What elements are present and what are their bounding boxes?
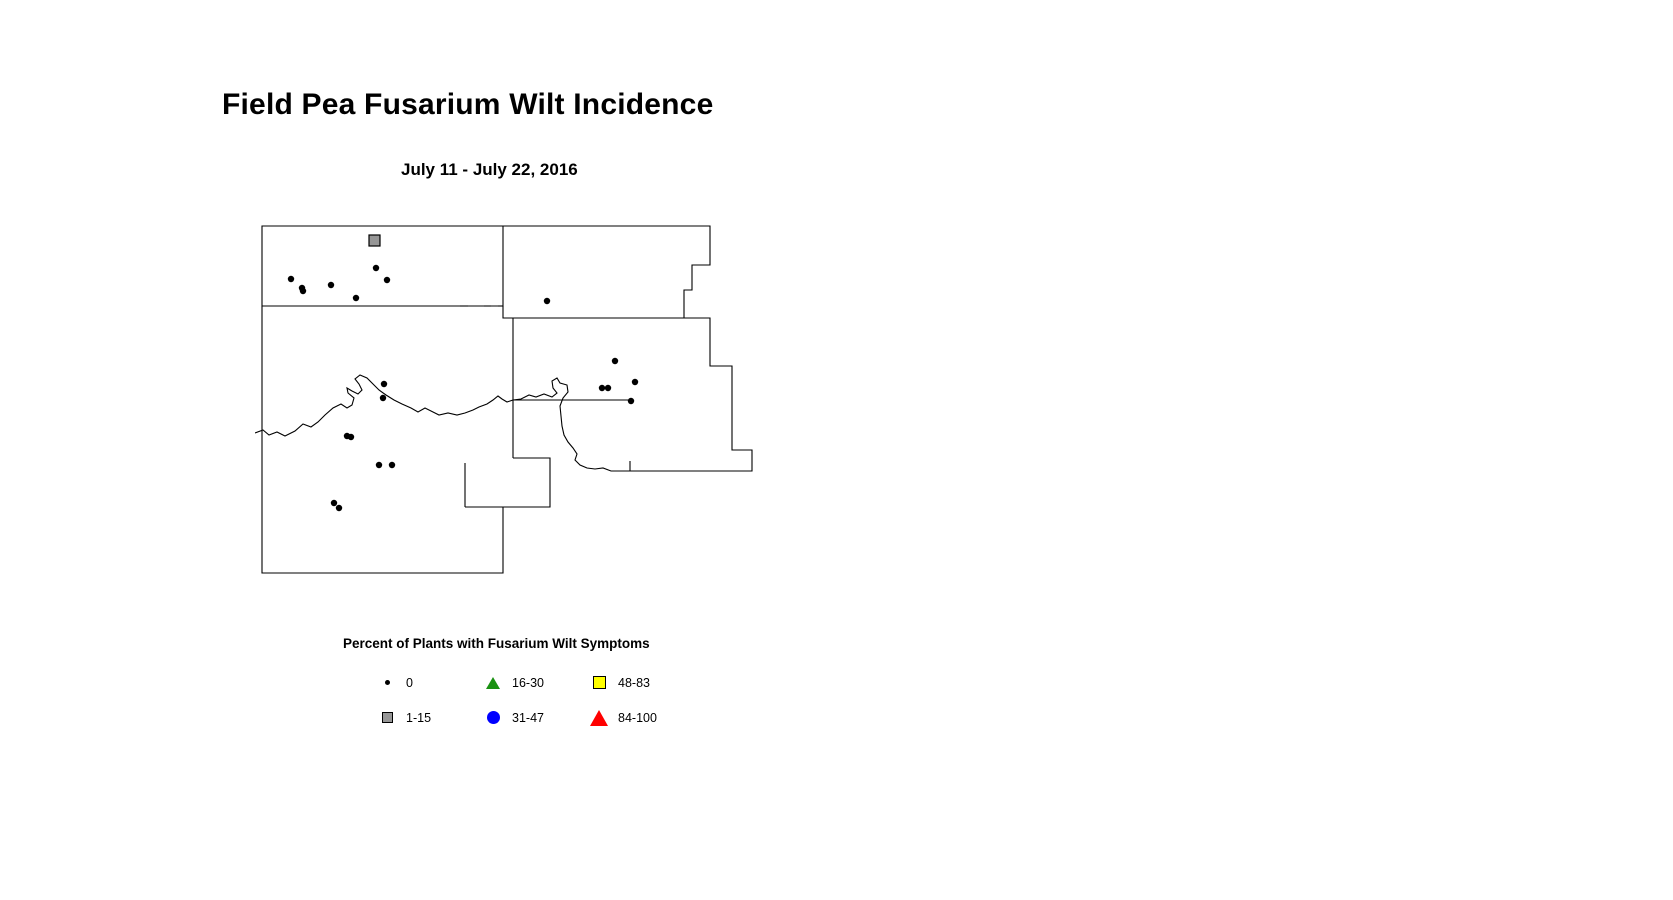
legend-row: 1-15 31-47 84-100	[376, 700, 696, 735]
triangle-red-icon	[588, 707, 610, 729]
county-map-svg	[255, 218, 775, 618]
county-outline-sw	[262, 306, 503, 573]
legend: 0 16-30 48-83 1-15 31-47 84-100	[376, 665, 696, 735]
data-points-layer	[288, 235, 638, 511]
county-divider-vertical-b	[503, 458, 550, 507]
legend-item-1-15: 1-15	[376, 707, 482, 729]
page-subtitle: July 11 - July 22, 2016	[401, 160, 578, 180]
triangle-green-icon	[482, 672, 504, 694]
data-point	[605, 385, 611, 391]
data-point	[331, 500, 337, 506]
square-yellow-icon	[588, 672, 610, 694]
square-gray-icon	[376, 707, 398, 729]
legend-item-16-30: 16-30	[482, 672, 588, 694]
legend-item-31-47: 31-47	[482, 707, 588, 729]
county-outline-e	[513, 318, 752, 471]
data-point	[381, 381, 387, 387]
legend-item-label: 0	[406, 676, 413, 690]
data-point	[544, 298, 550, 304]
data-point	[328, 282, 334, 288]
map-page: Field Pea Fusarium Wilt Incidence July 1…	[0, 0, 1673, 900]
legend-row: 0 16-30 48-83	[376, 665, 696, 700]
data-point	[628, 398, 634, 404]
data-point	[348, 434, 354, 440]
circle-blue-icon	[482, 707, 504, 729]
data-point-square	[369, 235, 380, 246]
incidence-points-low	[369, 235, 380, 246]
data-point	[380, 395, 386, 401]
data-point	[599, 385, 605, 391]
map-figure	[255, 218, 775, 618]
data-point	[288, 276, 294, 282]
legend-item-label: 84-100	[618, 711, 657, 725]
legend-item-48-83: 48-83	[588, 672, 694, 694]
data-point	[373, 265, 379, 271]
map-boundaries	[255, 226, 752, 573]
river-boundary-east	[513, 378, 630, 471]
data-point	[632, 379, 638, 385]
data-point	[612, 358, 618, 364]
dot-icon	[376, 672, 398, 694]
legend-item-label: 31-47	[512, 711, 544, 725]
data-point	[300, 288, 306, 294]
incidence-points-zero	[288, 265, 638, 511]
legend-item-label: 16-30	[512, 676, 544, 690]
data-point	[336, 505, 342, 511]
data-point	[353, 295, 359, 301]
data-point	[389, 462, 395, 468]
legend-item-label: 48-83	[618, 676, 650, 690]
legend-item-label: 1-15	[406, 711, 431, 725]
page-title: Field Pea Fusarium Wilt Incidence	[222, 88, 713, 122]
data-point	[376, 462, 382, 468]
county-outline-ne	[503, 226, 710, 318]
data-point	[384, 277, 390, 283]
legend-item-84-100: 84-100	[588, 707, 694, 729]
legend-title: Percent of Plants with Fusarium Wilt Sym…	[343, 636, 650, 651]
county-outline-nw	[262, 226, 503, 306]
legend-item-0: 0	[376, 672, 482, 694]
